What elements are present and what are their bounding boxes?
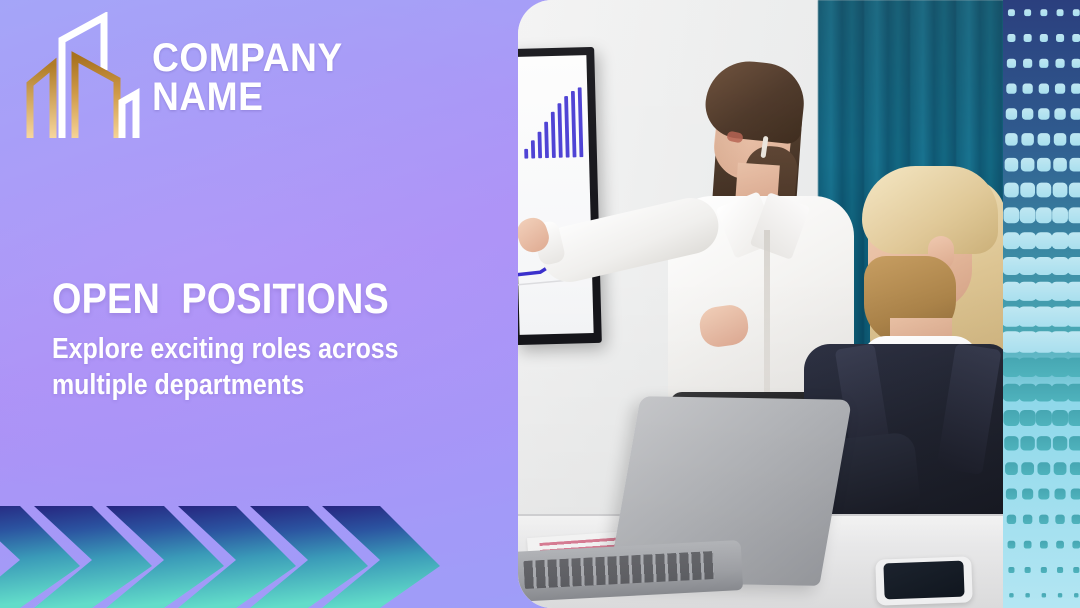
halftone-dot <box>1055 488 1066 499</box>
halftone-dot <box>1068 410 1080 426</box>
halftone-dot <box>1022 108 1033 119</box>
page-subtitle: Explore exciting roles across multiple d… <box>52 332 499 404</box>
halftone-dot <box>1008 541 1016 549</box>
halftone-dot <box>1007 59 1016 68</box>
halftone-dot <box>1037 462 1050 475</box>
halftone-dot <box>1003 232 1020 249</box>
halftone-dot <box>1024 34 1032 42</box>
halftone-dot <box>1069 158 1080 172</box>
halftone-dot <box>1041 567 1047 573</box>
halftone-dot <box>1004 436 1018 450</box>
halftone-dot <box>1067 384 1080 402</box>
halftone-dot <box>1005 133 1018 146</box>
brand-name: COMPANY NAME <box>152 39 343 117</box>
halftone-dot <box>1023 84 1033 94</box>
halftone-dot <box>1072 34 1080 42</box>
halftone-dot <box>1022 488 1033 499</box>
halftone-dot <box>1072 541 1080 549</box>
halftone-dot <box>1038 108 1049 119</box>
halftone-dot <box>1006 488 1017 499</box>
halftone-dot <box>1009 593 1013 597</box>
halftone-dot <box>1003 410 1019 426</box>
halftone-dot <box>1053 183 1068 198</box>
halftone-dot <box>1054 133 1067 146</box>
halftone-dot <box>1008 567 1014 573</box>
chevron-arrow-band <box>0 488 482 608</box>
halftone-dot-panel <box>1003 0 1080 608</box>
halftone-dot <box>1025 567 1031 573</box>
halftone-dot <box>1039 59 1048 68</box>
office-presentation-photo <box>518 0 1004 608</box>
building-skyline-icon <box>18 12 146 144</box>
halftone-dot <box>1068 232 1080 249</box>
halftone-dot <box>1071 108 1080 119</box>
brand-name-line1: COMPANY <box>152 36 343 80</box>
halftone-dot <box>1072 59 1080 68</box>
halftone-dot <box>1024 541 1032 549</box>
halftone-dot <box>1036 183 1051 198</box>
halftone-dot <box>1007 34 1015 42</box>
banner-canvas: COMPANY NAME OPEN POSITIONS Explore exci… <box>0 0 1080 608</box>
page-title: OPEN POSITIONS <box>52 278 450 321</box>
halftone-dot <box>1019 232 1036 249</box>
halftone-dot <box>1004 183 1019 198</box>
halftone-dot <box>1069 183 1080 198</box>
halftone-dot <box>1040 9 1047 16</box>
brand-logo[interactable]: COMPANY NAME <box>18 12 357 144</box>
halftone-dot <box>1024 9 1031 16</box>
halftone-dot <box>1019 384 1037 402</box>
halftone-dot <box>1007 515 1016 524</box>
halftone-dot <box>1025 593 1029 597</box>
halftone-dot <box>1055 515 1064 524</box>
halftone-dot <box>1021 133 1034 146</box>
halftone-dot <box>1008 9 1015 16</box>
halftone-dot <box>1053 158 1067 172</box>
halftone-dot <box>1035 232 1052 249</box>
halftone-dot <box>1003 384 1020 402</box>
halftone-dot <box>1040 541 1048 549</box>
halftone-dot <box>1051 257 1069 275</box>
halftone-dot <box>1023 59 1032 68</box>
halftone-dot <box>1036 207 1052 223</box>
halftone-dot <box>1052 232 1069 249</box>
halftone-dot <box>1037 158 1051 172</box>
halftone-dot <box>1071 488 1080 499</box>
halftone-dot <box>1004 207 1020 223</box>
halftone-dot <box>1058 593 1062 597</box>
halftone-dot <box>1042 593 1046 597</box>
halftone-dot <box>1072 515 1080 524</box>
halftone-dot <box>1066 307 1080 327</box>
halftone-dot <box>1070 462 1080 475</box>
halftone-dot <box>1037 436 1051 450</box>
halftone-dot <box>1070 133 1080 146</box>
halftone-dot <box>1055 84 1065 94</box>
halftone-dot <box>1067 257 1080 275</box>
halftone-dot <box>1038 133 1051 146</box>
halftone-dot <box>1069 436 1080 450</box>
halftone-dot <box>1035 384 1053 402</box>
halftone-dot <box>1068 207 1080 223</box>
halftone-dot <box>1021 462 1034 475</box>
halftone-dot <box>1055 59 1064 68</box>
halftone-dot <box>1057 567 1063 573</box>
halftone-dot <box>1019 257 1037 275</box>
halftone-dot <box>1020 410 1036 426</box>
halftone-dot <box>1003 257 1020 275</box>
halftone-dot <box>1052 207 1068 223</box>
halftone-dot <box>1056 541 1064 549</box>
halftone-dot <box>1074 593 1078 597</box>
halftone-dot <box>1036 410 1052 426</box>
halftone-dot <box>1057 9 1064 16</box>
hero-copy: OPEN POSITIONS Explore exciting roles ac… <box>52 278 504 404</box>
halftone-dot <box>1021 158 1035 172</box>
halftone-dot <box>1071 84 1080 94</box>
halftone-dot <box>1006 84 1016 94</box>
halftone-dot <box>1035 257 1053 275</box>
halftone-dot <box>1066 331 1080 352</box>
halftone-dot <box>1039 84 1049 94</box>
halftone-dot <box>1053 436 1067 450</box>
halftone-dot <box>1056 34 1064 42</box>
halftone-dot <box>1054 462 1067 475</box>
halftone-dot <box>1054 108 1065 119</box>
halftone-dot <box>1073 567 1079 573</box>
photo-color-grade <box>518 0 1004 608</box>
halftone-dot <box>1051 384 1069 402</box>
halftone-dot <box>1052 410 1068 426</box>
halftone-dot <box>1020 183 1035 198</box>
halftone-dot <box>1005 462 1018 475</box>
brand-name-line2: NAME <box>152 78 343 117</box>
halftone-dot <box>1039 515 1048 524</box>
halftone-dot <box>1038 488 1049 499</box>
halftone-dot <box>1005 158 1019 172</box>
halftone-dot <box>1067 358 1080 377</box>
halftone-dot <box>1023 515 1032 524</box>
halftone-dot <box>1020 207 1036 223</box>
halftone-dot <box>1040 34 1048 42</box>
halftone-dot <box>1020 436 1034 450</box>
halftone-dot <box>1073 9 1080 16</box>
halftone-dot <box>1006 108 1017 119</box>
halftone-dot <box>1067 282 1080 301</box>
